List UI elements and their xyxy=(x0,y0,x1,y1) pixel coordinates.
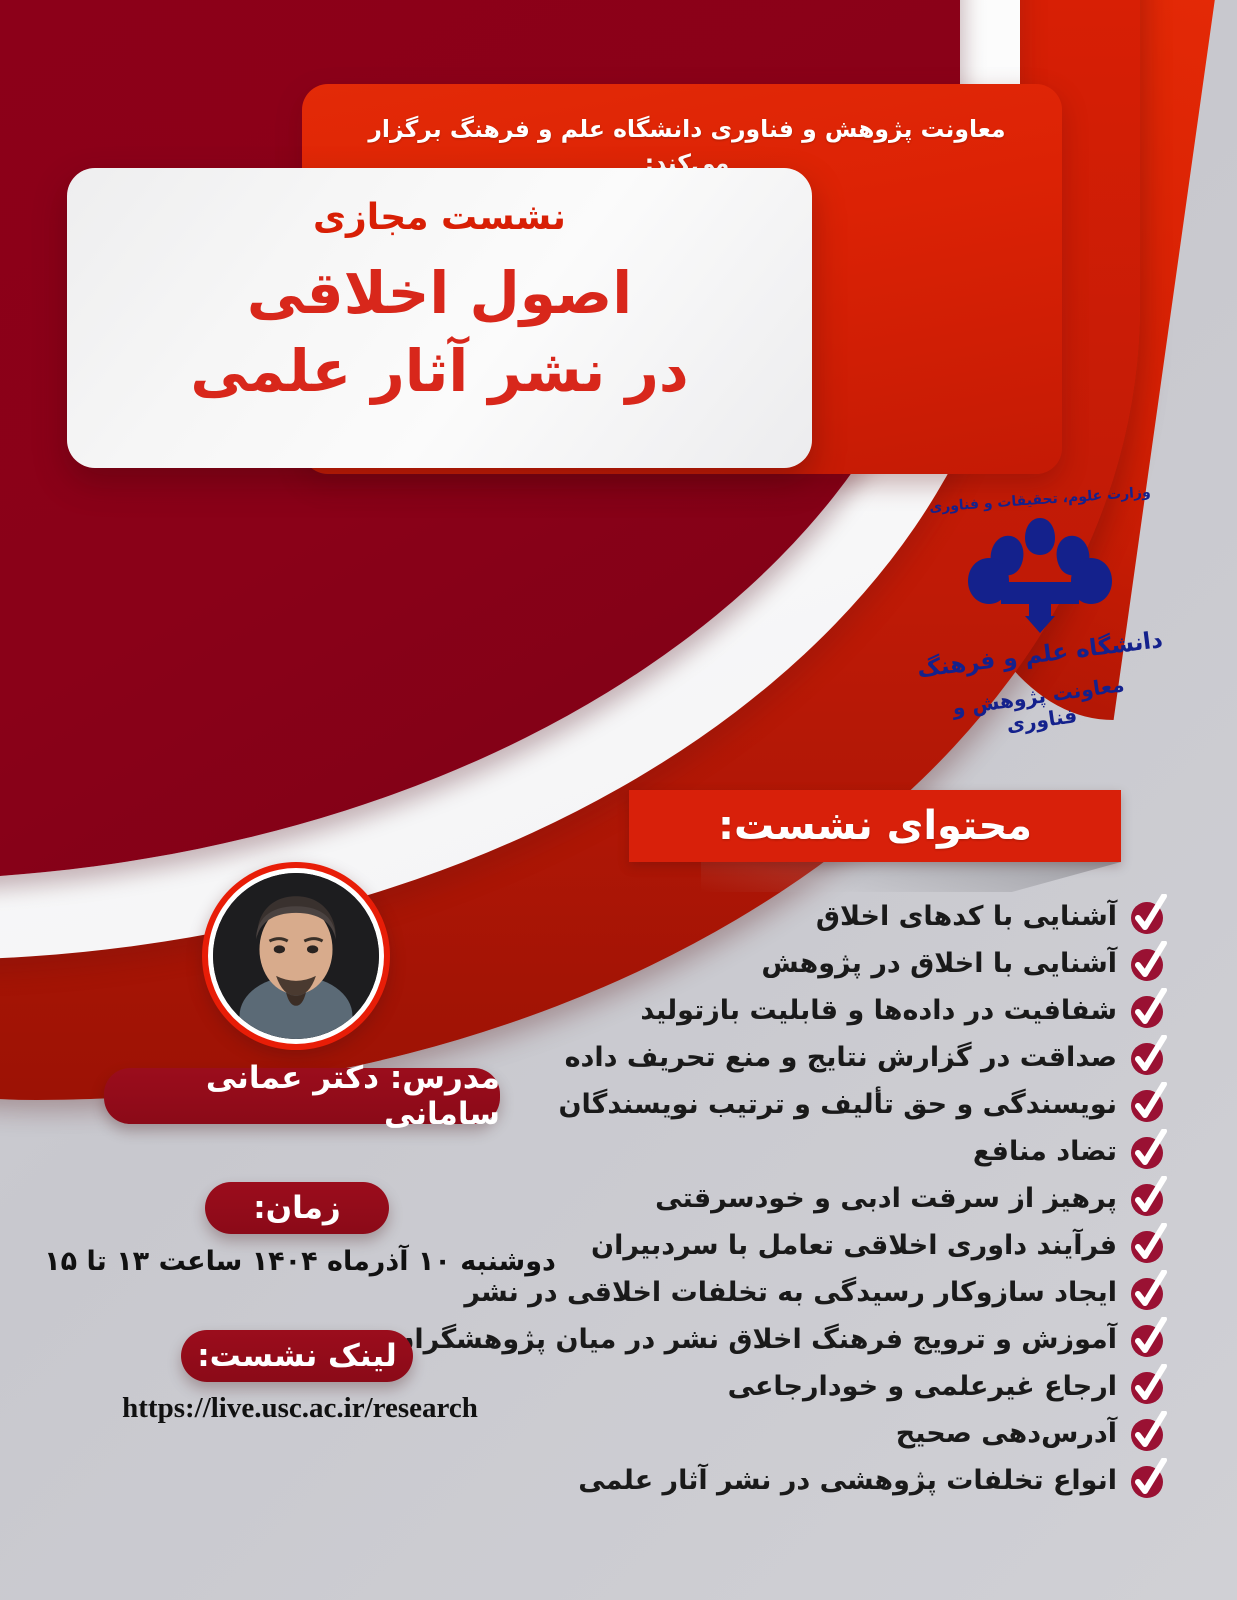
list-item-label: پرهیز از سرقت ادبی و خودسرقتی xyxy=(655,1182,1117,1216)
list-item: ایجاد سازوکار رسیدگی به تخلفات اخلاقی در… xyxy=(67,1271,1167,1315)
university-logo: وزارت علوم، تحقیقات و فناوری دانشگاه علم… xyxy=(915,492,1165,768)
time-badge: زمان: xyxy=(205,1182,389,1234)
list-item: تضاد منافع xyxy=(67,1130,1167,1174)
check-icon xyxy=(1129,1133,1167,1171)
time-value: دوشنبه ۱۰ آذرماه ۱۴۰۴ ساعت ۱۳ تا ۱۵ xyxy=(40,1246,560,1277)
time-label: زمان: xyxy=(253,1190,341,1226)
check-icon xyxy=(1129,1368,1167,1406)
link-badge: لینک نشست: xyxy=(181,1330,413,1382)
check-icon xyxy=(1129,1180,1167,1218)
title-card: نشست مجازی اصول اخلاقی در نشر آثار علمی xyxy=(67,168,812,468)
list-item-label: ارجاع غیرعلمی و خودارجاعی xyxy=(728,1370,1117,1404)
page-title-line1: اصول اخلاقی xyxy=(247,256,632,330)
check-icon xyxy=(1129,1415,1167,1453)
avatar xyxy=(202,862,390,1050)
check-icon xyxy=(1129,1462,1167,1500)
speaker-label: مدرس: دکتر عمانی سامانی xyxy=(104,1060,500,1132)
check-icon xyxy=(1129,945,1167,983)
list-item-label: آدرس‌دهی صحیح xyxy=(896,1417,1117,1451)
check-icon xyxy=(1129,898,1167,936)
check-icon xyxy=(1129,1274,1167,1312)
list-item-label: تضاد منافع xyxy=(973,1135,1117,1169)
list-item-label: شفافیت در داده‌ها و قابلیت بازتولید xyxy=(640,994,1117,1028)
list-item-label: صداقت در گزارش نتایج و منع تحریف داده xyxy=(565,1041,1117,1075)
list-item-label: آشنایی با کدهای اخلاق xyxy=(816,900,1117,934)
list-item-label: ایجاد سازوکار رسیدگی به تخلفات اخلاقی در… xyxy=(464,1276,1117,1310)
check-icon xyxy=(1129,1321,1167,1359)
event-kicker: نشست مجازی xyxy=(313,198,566,238)
check-icon xyxy=(1129,1039,1167,1077)
list-item-label: فرآیند داوری اخلاقی تعامل با سردبیران xyxy=(591,1229,1117,1263)
poster-root: معاونت پژوهش و فناوری دانشگاه علم و فرهن… xyxy=(0,0,1237,1600)
list-item-label: آموزش و ترویج فرهنگ اخلاق نشر در میان پژ… xyxy=(391,1323,1117,1357)
list-item-label: نویسندگی و حق تألیف و ترتیب نویسندگان xyxy=(558,1088,1117,1122)
list-item-label: انواع تخلفات پژوهشی در نشر آثار علمی xyxy=(578,1464,1117,1498)
tulip-logo-icon xyxy=(965,510,1115,638)
speaker-badge: مدرس: دکتر عمانی سامانی xyxy=(104,1068,500,1124)
check-icon xyxy=(1129,1227,1167,1265)
content-banner-label: محتوای نشست: xyxy=(718,803,1032,849)
meeting-url[interactable]: https://live.usc.ac.ir/research xyxy=(40,1392,560,1425)
check-icon xyxy=(1129,1086,1167,1124)
list-item-label: آشنایی با اخلاق در پژوهش xyxy=(761,947,1117,981)
content-banner: محتوای نشست: xyxy=(629,790,1121,862)
speaker-photo xyxy=(213,873,379,1039)
check-icon xyxy=(1129,992,1167,1030)
logo-deputy-label: معاونت پژوهش و فناوری xyxy=(913,667,1167,749)
link-label: لینک نشست: xyxy=(197,1338,396,1374)
list-item: انواع تخلفات پژوهشی در نشر آثار علمی xyxy=(67,1459,1167,1503)
page-title-line2: در نشر آثار علمی xyxy=(190,334,688,408)
